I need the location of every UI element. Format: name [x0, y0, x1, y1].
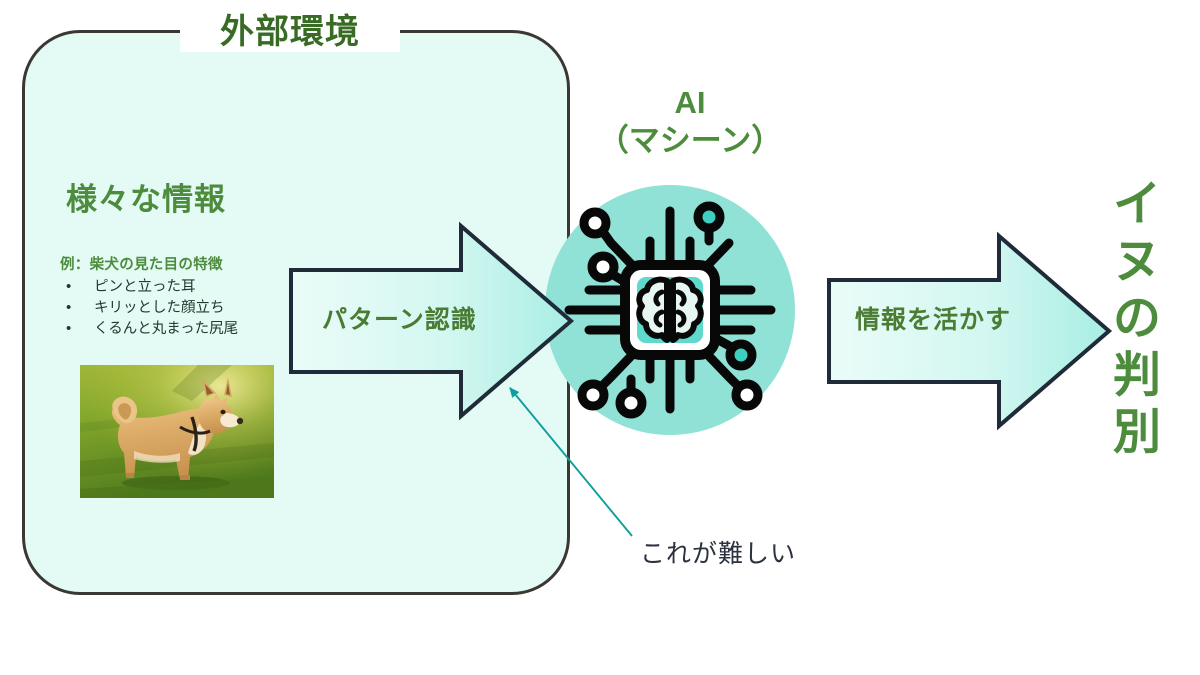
list-item: くるんと丸まった尻尾	[60, 319, 295, 340]
ai-title-line1: AI	[675, 85, 706, 120]
shiba-inu-photo	[80, 365, 274, 498]
list-item: キリッとした顔立ち	[60, 298, 295, 319]
result-char: 判	[1106, 347, 1168, 404]
diagram-canvas: 外部環境 様々な情報 例：柴犬の見た目の特徴 ピンと立った耳 キリッとした顔立ち…	[0, 0, 1200, 675]
result-char: ヌ	[1106, 233, 1168, 290]
shiba-features-block: 例：柴犬の見た目の特徴 ピンと立った耳 キリッとした顔立ち くるんと丸まった尻尾	[60, 256, 295, 340]
apply-information-label: 情報を活かす	[855, 300, 1011, 336]
result-char: の	[1106, 290, 1168, 347]
external-environment-title: 外部環境	[180, 12, 400, 52]
ai-title-line2: （マシーン）	[560, 122, 820, 160]
result-char: 別	[1106, 404, 1168, 461]
ai-machine-title: AI （マシーン）	[560, 84, 820, 160]
result-char: イ	[1106, 176, 1168, 233]
annotation-arrow-icon	[480, 370, 680, 550]
various-information-heading: 様々な情報	[66, 174, 226, 219]
list-item: ピンと立った耳	[60, 277, 295, 298]
dog-identification-result: イ ヌ の 判 別	[1106, 176, 1168, 461]
shiba-features-title: 例：柴犬の見た目の特徴	[60, 256, 295, 275]
annotation-text: これが難しい	[640, 534, 796, 570]
pattern-recognition-label: パターン認識	[322, 300, 477, 336]
shiba-features-list: ピンと立った耳 キリッとした顔立ち くるんと丸まった尻尾	[60, 277, 295, 340]
